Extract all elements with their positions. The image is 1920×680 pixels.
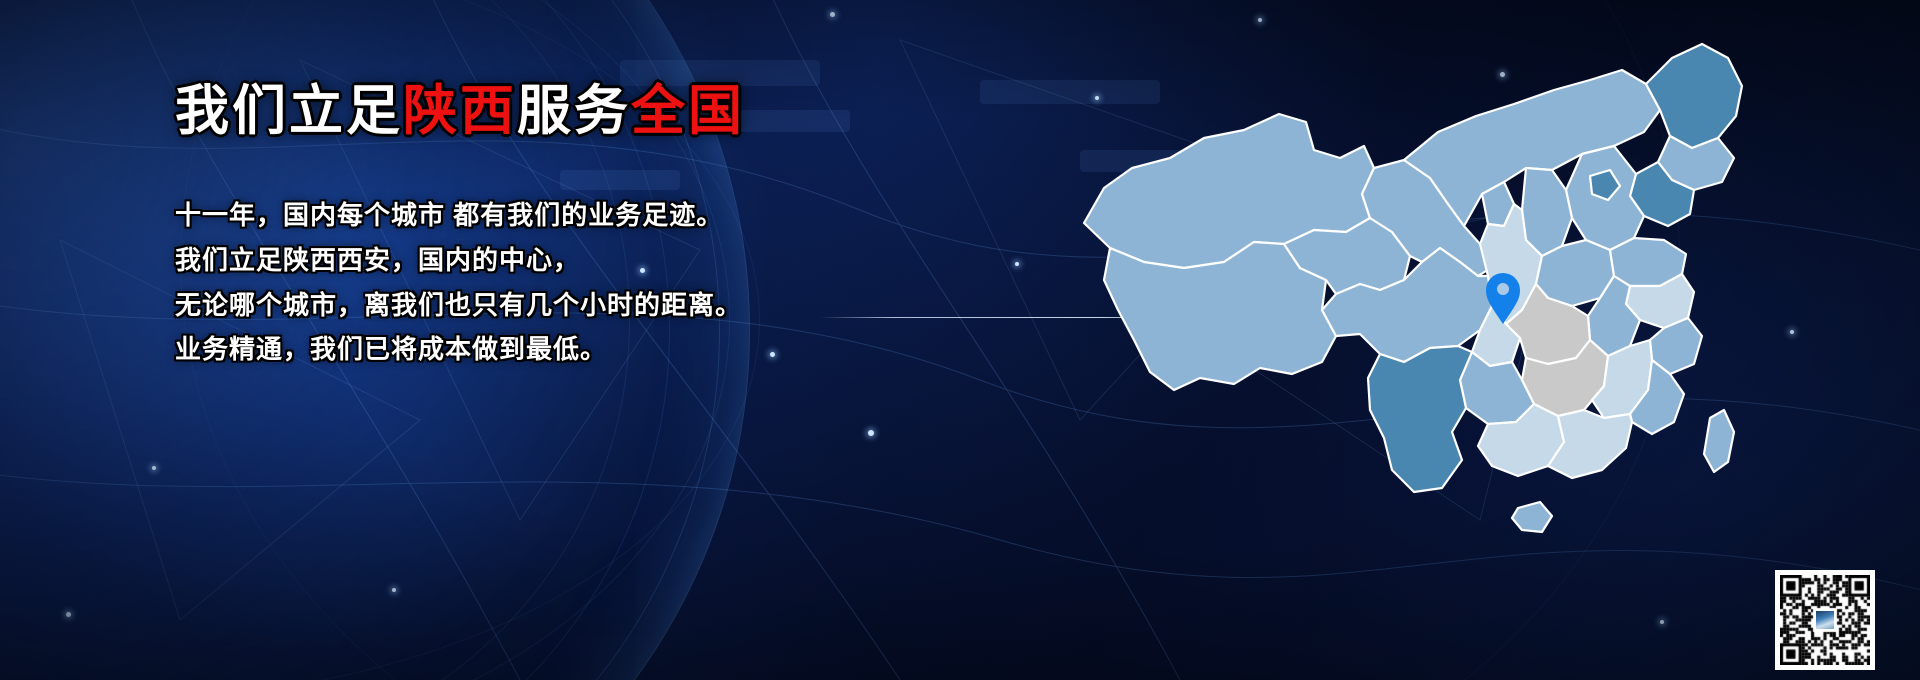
- body-line-1: 十一年，国内每个城市 都有我们的业务足迹。: [175, 193, 935, 238]
- headline-segment-1: 我们立足: [175, 81, 403, 141]
- particle: [392, 588, 396, 592]
- particle: [868, 430, 874, 436]
- headline-segment-4-highlight: 全国: [631, 81, 745, 141]
- body-copy: 十一年，国内每个城市 都有我们的业务足迹。 我们立足陕西西安，国内的中心， 无论…: [175, 193, 935, 372]
- wechat-qr-code[interactable]: [1775, 570, 1875, 670]
- body-line-2: 我们立足陕西西安，国内的中心，: [175, 238, 935, 283]
- body-line-4: 业务精通，我们已将成本做到最低。: [175, 327, 935, 372]
- particle: [1015, 262, 1019, 266]
- particle: [830, 12, 835, 17]
- company-coverage-banner: 我们立足陕西服务全国 十一年，国内每个城市 都有我们的业务足迹。 我们立足陕西西…: [0, 0, 1920, 680]
- china-map-svg: [1074, 18, 1874, 658]
- map-region-heilongjiang: [1646, 44, 1742, 148]
- copy-block: 我们立足陕西服务全国 十一年，国内每个城市 都有我们的业务足迹。 我们立足陕西西…: [175, 84, 935, 372]
- headline-segment-3: 服务: [517, 81, 631, 141]
- map-region-taiwan: [1704, 410, 1734, 472]
- page-title: 我们立足陕西服务全国: [175, 84, 935, 139]
- particle: [66, 612, 71, 617]
- china-map[interactable]: [1074, 18, 1874, 658]
- headline-segment-2-highlight: 陕西: [403, 81, 517, 141]
- particle: [152, 466, 156, 470]
- map-region-hainan: [1512, 502, 1552, 532]
- map-region-yunnan: [1368, 346, 1472, 492]
- body-line-3: 无论哪个城市，离我们也只有几个小时的距离。: [175, 283, 935, 328]
- qr-center-avatar: [1814, 609, 1836, 631]
